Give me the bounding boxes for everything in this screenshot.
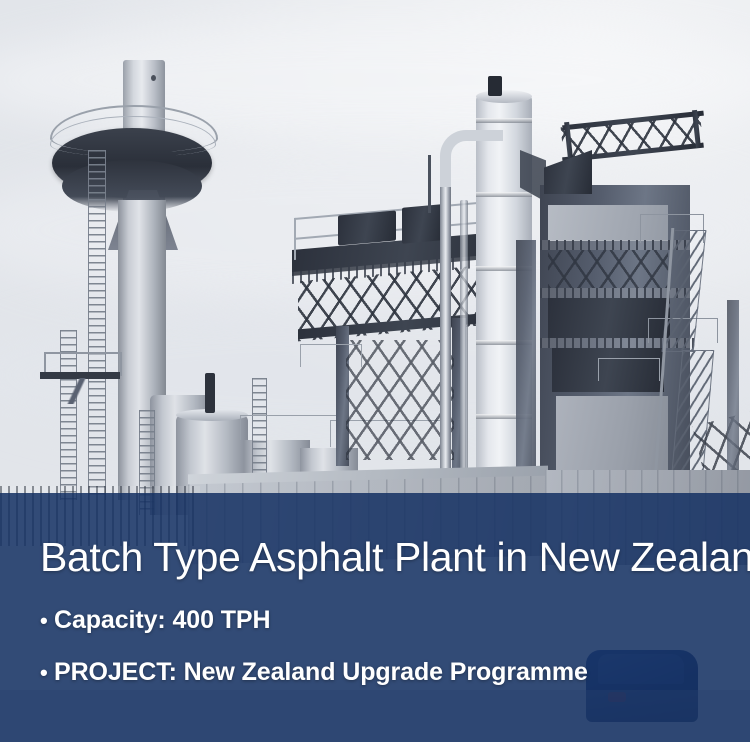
tank-vent-stack [205, 373, 215, 413]
list-item: • Capacity: 400 TPH [40, 606, 588, 635]
chimney-mid-platform-brace [46, 378, 108, 404]
bullet-marker-icon: • [40, 662, 54, 684]
silo-cap [476, 90, 532, 103]
gantry-equipment-box-2 [402, 204, 442, 243]
tank-walkway-railing [240, 415, 337, 440]
silo-band-1 [476, 118, 532, 123]
mixing-tower-railing-3 [598, 358, 660, 381]
spec-list: • Capacity: 400 TPH • PROJECT: New Zeala… [40, 606, 588, 687]
silo-top-fitting [488, 76, 502, 96]
gantry-antenna-mast [428, 155, 431, 213]
bullet-marker-icon: • [40, 610, 54, 632]
chimney-ladder [88, 150, 106, 500]
silo-feed-elbow [440, 130, 503, 187]
gantry-equipment-box [338, 210, 396, 245]
list-item: • PROJECT: New Zealand Upgrade Programme [40, 658, 588, 687]
page-title: Batch Type Asphalt Plant in New Zealand [40, 534, 750, 581]
silo-band-2 [476, 192, 532, 197]
lower-platform-railing [300, 344, 362, 367]
silo-feed-pipe [440, 168, 451, 488]
bucket-elevator-column [516, 240, 536, 498]
spec-project-label: PROJECT: New Zealand Upgrade Programme [54, 658, 588, 687]
silo-feed-pipe-secondary [460, 200, 468, 480]
spec-capacity-label: Capacity: 400 TPH [54, 606, 270, 635]
slide-banner: Batch Type Asphalt Plant in New Zealand … [0, 0, 750, 742]
gantry-column-bracing [346, 340, 454, 460]
chimney-vent-hole [151, 75, 156, 81]
mixing-tower-screen-deck [548, 250, 668, 288]
